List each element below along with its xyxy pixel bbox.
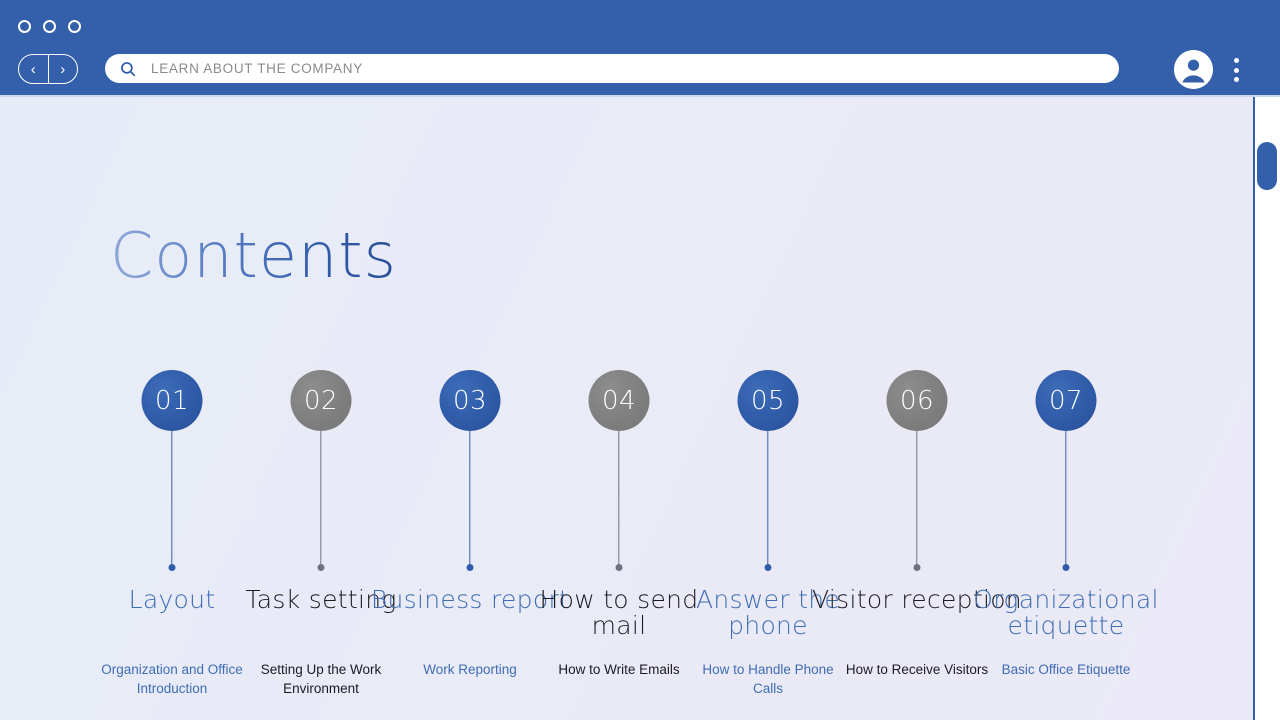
app-root: ‹ › LEARN ABOUT THE COMPANY <box>0 0 1280 720</box>
search-input[interactable]: LEARN ABOUT THE COMPANY <box>151 61 363 76</box>
timeline-subtitle: How to Handle Phone Calls <box>686 660 851 698</box>
navigation-buttons: ‹ › <box>18 54 78 84</box>
user-avatar-icon <box>1174 50 1213 89</box>
kebab-dot-1 <box>1234 58 1239 63</box>
timeline-number-badge[interactable]: 05 <box>738 370 799 431</box>
timeline-item-04[interactable]: 04 How to send mail How to Write Emails <box>544 272 694 720</box>
timeline-subtitle: Organization and Office Introduction <box>90 660 255 698</box>
timeline-item-01[interactable]: 01 Layout Organization and Office Introd… <box>97 272 247 720</box>
timeline-end-dot <box>467 564 474 571</box>
timeline-end-dot <box>1063 564 1070 571</box>
timeline-number-badge[interactable]: 04 <box>589 370 650 431</box>
timeline-connector-line <box>618 431 619 567</box>
timeline-end-dot <box>765 564 772 571</box>
timeline-connector-line <box>171 431 172 567</box>
timeline-item-03[interactable]: 03 Business report Work Reporting <box>395 272 545 720</box>
close-window-icon[interactable] <box>18 20 31 33</box>
timeline-connector-line <box>916 431 917 567</box>
timeline-end-dot <box>616 564 623 571</box>
timeline-subtitle: Basic Office Etiquette <box>984 660 1149 679</box>
vertical-scrollbar-thumb[interactable] <box>1257 142 1277 190</box>
timeline-end-dot <box>914 564 921 571</box>
timeline-connector-line <box>1065 431 1066 567</box>
timeline-connector-line <box>767 431 768 567</box>
timeline-end-dot <box>318 564 325 571</box>
back-button[interactable]: ‹ <box>19 55 49 83</box>
window-controls <box>18 20 81 33</box>
timeline-number-badge[interactable]: 03 <box>440 370 501 431</box>
timeline-subtitle: How to Receive Visitors <box>835 660 1000 679</box>
timeline-number-badge[interactable]: 07 <box>1036 370 1097 431</box>
timeline-heading: Organizational etiquette <box>961 587 1171 640</box>
timeline-connector-line <box>320 431 321 567</box>
search-icon <box>119 60 137 78</box>
avatar[interactable] <box>1174 50 1213 89</box>
chevron-left-icon: ‹ <box>31 62 36 77</box>
browser-header: ‹ › LEARN ABOUT THE COMPANY <box>0 0 1280 97</box>
minimize-window-icon[interactable] <box>43 20 56 33</box>
contents-timeline: 01 Layout Organization and Office Introd… <box>0 272 1253 720</box>
chevron-right-icon: › <box>60 62 65 77</box>
maximize-window-icon[interactable] <box>68 20 81 33</box>
timeline-number-badge[interactable]: 01 <box>142 370 203 431</box>
forward-button[interactable]: › <box>49 55 78 83</box>
slide-canvas: Contents 01 Layout Organization and Offi… <box>0 97 1253 720</box>
kebab-dot-3 <box>1234 77 1239 82</box>
timeline-item-06[interactable]: 06 Visitor reception How to Receive Visi… <box>842 272 992 720</box>
timeline-connector-line <box>469 431 470 567</box>
timeline-item-07[interactable]: 07 Organizational etiquette Basic Office… <box>991 272 1141 720</box>
timeline-subtitle: Setting Up the Work Environment <box>239 660 404 698</box>
kebab-menu-icon[interactable] <box>1230 55 1242 85</box>
timeline-end-dot <box>169 564 176 571</box>
timeline-item-05[interactable]: 05 Answer the phone How to Handle Phone … <box>693 272 843 720</box>
timeline-subtitle: Work Reporting <box>388 660 553 679</box>
kebab-dot-2 <box>1234 68 1239 73</box>
timeline-number-badge[interactable]: 06 <box>887 370 948 431</box>
vertical-scrollbar-track[interactable] <box>1253 97 1280 720</box>
search-bar[interactable]: LEARN ABOUT THE COMPANY <box>105 54 1119 83</box>
timeline-subtitle: How to Write Emails <box>537 660 702 679</box>
timeline-item-02[interactable]: 02 Task setting Setting Up the Work Envi… <box>246 272 396 720</box>
timeline-number-badge[interactable]: 02 <box>291 370 352 431</box>
